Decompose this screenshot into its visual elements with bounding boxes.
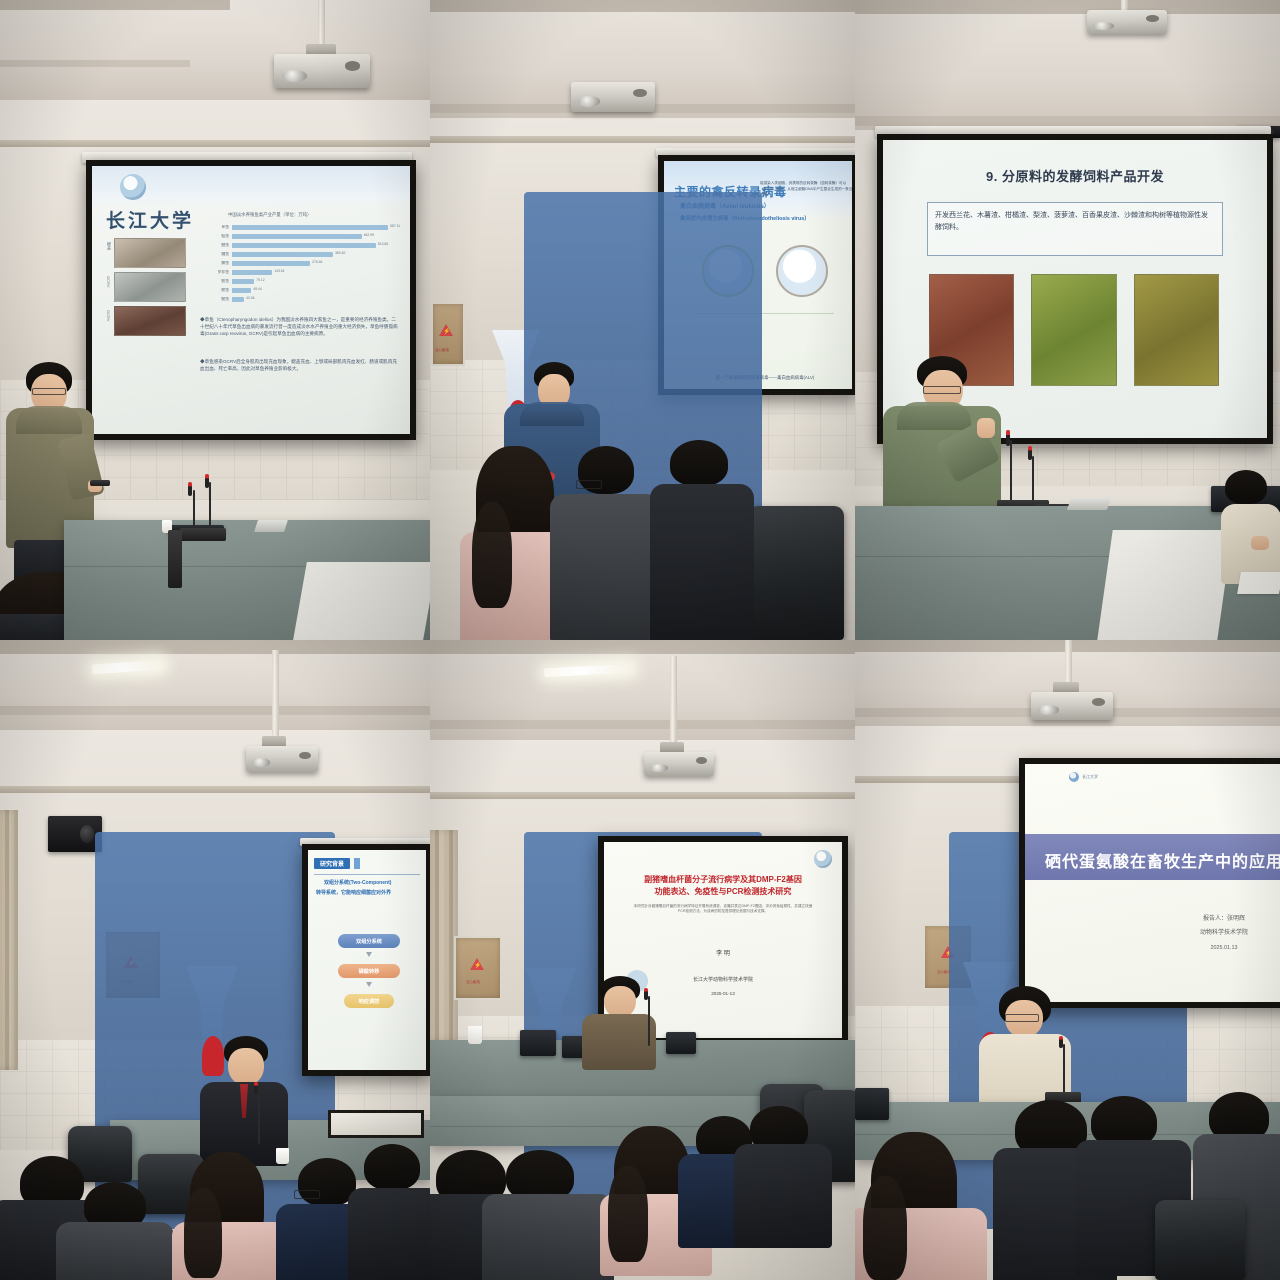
chart-bar-track: 43.06 [232, 297, 400, 302]
gooseneck-microphone [1057, 1036, 1069, 1100]
notebook [1237, 572, 1280, 594]
projection-screen[interactable]: 长江大学 鳃盖 GCRV GCRV 中国淡水养殖鱼类产业产量（单位：万吨） 草鱼… [86, 160, 416, 440]
table-white-panel [293, 562, 430, 640]
chart-bar-track: 462.99 [232, 234, 400, 239]
glasses-icon [32, 388, 66, 395]
chart-bar [232, 288, 251, 293]
chart-bar-row: 罗非鱼143.54 [200, 269, 400, 276]
chart-category-label: 草鱼 [200, 225, 232, 230]
photo-label-1: 鳃盖 [106, 242, 112, 250]
slide-photo-3 [1134, 274, 1219, 386]
slide-photo-2 [1031, 274, 1116, 386]
chart-bar-row: 鲤鱼513.65 [200, 242, 400, 249]
slide-body-2: ◆草鱼感染GCRV后全身肌肉出现充血现象，鳃盖充血、上颚或局部肌肉充血发红、肠道… [200, 358, 400, 372]
chart-value-label: 43.06 [246, 296, 255, 300]
collage-panel-top-right[interactable]: 9. 分原料的发酵饲料产品开发 开发西兰花、木薯渣、柑橘渣、梨渣、菠萝渣、百香果… [855, 0, 1280, 640]
university-logo-mark [1069, 772, 1079, 782]
electrical-hazard-icon [439, 324, 453, 336]
chart-bar-track: 79.12 [232, 279, 400, 284]
chart-category-label: 鲢鱼 [200, 234, 232, 239]
chart-bar-row: 鮊鱼43.06 [200, 296, 400, 303]
collage-panel-bottom-center[interactable]: 当心触电 副猪嗜血杆菌分子流行病学及其DMP-F2基因 功能表达、免疫性与PCR… [430, 640, 855, 1280]
audience-person-grey-coat [56, 1196, 172, 1280]
chart-bars: 草鱼557.11鲢鱼462.99鲤鱼513.65鳙鱼360.82鲫鱼278.46… [200, 224, 400, 303]
slide-subtitle-2: 能感染人类细胞，其携带的反转录酶（逆转录酶）可以（cDNA）结合，从宿主细胞DN… [760, 181, 852, 198]
glasses-icon [923, 386, 961, 394]
chart-value-label: 278.46 [312, 260, 322, 264]
monitor-on-table [855, 1088, 889, 1120]
chart-category-label: 鲮鱼 [200, 288, 232, 293]
collage-panel-bottom-right[interactable]: 当心触电 长江大学 硒代蛋氨酸在畜牧生产中的应用 报告人：张明辉 动物科学技术学… [855, 640, 1280, 1280]
chart-bar-track: 557.11 [232, 225, 400, 230]
slide-panel-1: 长江大学 鳃盖 GCRV GCRV 中国淡水养殖鱼类产业产量（单位：万吨） 草鱼… [92, 166, 410, 434]
chart-bar [232, 243, 376, 248]
framed-picture [328, 1110, 424, 1138]
slide-title-line-1: 副猪嗜血杆菌分子流行病学及其DMP-F2基因 [604, 874, 842, 886]
chart-bar-track: 360.82 [232, 252, 400, 257]
paper-cup [276, 1148, 289, 1164]
gooseneck-microphone [252, 1082, 264, 1144]
flow-node-1: 双组分系统 [338, 934, 400, 948]
chart-bar-track: 278.46 [232, 261, 400, 266]
gooseneck-microphone [642, 988, 654, 1046]
slide-body-line-2: 转导系统，它能响应细菌应对外界 [316, 890, 391, 898]
chart-category-label: 鮊鱼 [200, 297, 232, 302]
photo-label-2: GCRV [106, 276, 111, 287]
audience-person-dark [650, 440, 754, 640]
projector-pole [1065, 640, 1072, 686]
collage-panel-top-left[interactable]: 长江大学 鳃盖 GCRV GCRV 中国淡水养殖鱼类产业产量（单位：万吨） 草鱼… [0, 0, 430, 640]
ceiling-projector [1031, 692, 1113, 720]
chart-bar-row: 鲢鱼462.99 [200, 233, 400, 240]
audience-person-hoodie [550, 446, 660, 640]
monitor-on-table [520, 1030, 556, 1056]
glasses-icon [294, 1190, 320, 1199]
office-chair [1155, 1200, 1245, 1280]
slide-abstract: 本研究针对副猪嗜血杆菌的流行病学特征开展系统调查，克隆并表达DMP-F2基因，评… [630, 904, 816, 915]
chart-bar [232, 297, 244, 302]
flow-node-2: 磷酸转移 [338, 964, 400, 978]
chart-bar-track: 513.65 [232, 243, 400, 248]
chart-bar [232, 270, 272, 275]
fish-photo-column [114, 238, 186, 336]
chart-bar-track: 143.54 [232, 270, 400, 275]
projection-screen[interactable]: 研究背景 双组分系统(Two-Component) 转导系统，它能响应细菌应对外… [302, 844, 430, 1076]
ceiling-projector [246, 746, 318, 772]
table-white-panel [1097, 530, 1232, 640]
university-logo: 长江大学 [1069, 772, 1098, 782]
laptop-on-table [1067, 498, 1111, 510]
paper-cup [468, 1026, 482, 1044]
electrical-hazard-icon [470, 958, 484, 970]
chart-bar [232, 234, 362, 239]
wall-speaker [48, 816, 102, 852]
ceiling-projector [274, 54, 370, 88]
audience-person-black-jacket [352, 1164, 430, 1280]
dark-object-on-table [168, 530, 182, 588]
chart-category-label: 鲤鱼 [200, 243, 232, 248]
chart-value-label: 360.82 [335, 251, 345, 255]
slide-body-3: 开发西兰花、木薯渣、柑橘渣、梨渣、菠萝渣、百香果皮渣、沙棘渣和构树等植物源性发酵… [935, 210, 1211, 234]
window-curtain [0, 810, 18, 1070]
chart-value-label: 462.99 [364, 233, 374, 237]
audience-person-black-jacket [736, 1118, 828, 1246]
chart-category-label: 鲫鱼 [200, 261, 232, 266]
chart-category-label: 鳙鱼 [200, 252, 232, 257]
monitor-on-table [666, 1032, 696, 1054]
chart-bar [232, 261, 310, 266]
chart-value-label: 143.54 [274, 269, 284, 273]
ceiling-projector [571, 82, 655, 112]
chart-bar-row: 鲂鱼79.12 [200, 278, 400, 285]
slide-title-3: 9. 分原料的发酵饲料产品开发 [883, 166, 1267, 185]
collage-panel-bottom-left[interactable]: 当心触电 研究背景 双组分系统(Two-Component) 转导系统，它能响应… [0, 640, 430, 1280]
gooseneck-microphone-2 [202, 474, 216, 536]
audience-person-pink [164, 1170, 292, 1280]
photo-label-3: GCRV [106, 310, 111, 321]
chart-title: 中国淡水养殖鱼类产业产量（单位：万吨） [228, 212, 311, 218]
projector-pole [318, 0, 325, 46]
glasses-icon [576, 480, 602, 489]
slide-title-6: 硒代蛋氨酸在畜牧生产中的应用 [1045, 848, 1280, 872]
production-bar-chart: 中国淡水养殖鱼类产业产量（单位：万吨） 草鱼557.11鲢鱼462.99鲤鱼51… [200, 224, 400, 305]
laser-pointer [90, 480, 110, 486]
chart-value-label: 557.11 [390, 224, 400, 228]
chart-bar-row: 鲮鱼69.44 [200, 287, 400, 294]
collage-panel-top-center[interactable]: 主要的禽反转录病毒 能感染人类细胞，其携带的反转录酶（逆转录酶）可以（cDNA）… [430, 0, 855, 640]
projector-pole [272, 650, 279, 740]
university-brush-text: 长江大学 [106, 206, 194, 233]
slide-body-line-1: 双组分系统(Two-Component) [324, 880, 391, 888]
slide-title-line-2: 功能表达、免疫性与PCR检测技术研究 [604, 886, 842, 898]
university-logo-text: 长江大学 [1082, 774, 1098, 780]
chart-category-label: 鲂鱼 [200, 279, 232, 284]
chart-bar-track: 69.44 [232, 288, 400, 293]
virion-diagram-right [776, 245, 828, 297]
electrical-panel-warning-label: 当心触电 [466, 980, 480, 985]
chart-bar [232, 225, 388, 230]
audience-person-pink [855, 1140, 991, 1280]
chart-bar [232, 252, 333, 257]
slide-author: 李 明 [604, 948, 842, 957]
slide-org: 动物科学技术学院 [1145, 928, 1280, 939]
laptop-on-table [254, 520, 288, 532]
chart-value-label: 69.44 [253, 287, 262, 291]
slide-panel-6: 长江大学 硒代蛋氨酸在畜牧生产中的应用 报告人：张明辉 动物科学技术学院 202… [1025, 764, 1280, 1002]
chart-value-label: 513.65 [378, 242, 388, 246]
chart-bar [232, 279, 254, 284]
projection-screen[interactable]: 长江大学 硒代蛋氨酸在畜牧生产中的应用 报告人：张明辉 动物科学技术学院 202… [1019, 758, 1280, 1008]
electrical-panel-warning-label: 当心触电 [435, 348, 449, 353]
chart-category-label: 罗非鱼 [200, 270, 232, 275]
microphone-base [180, 528, 226, 541]
flow-node-3: 响应调控 [344, 994, 394, 1008]
chair-person-suit [196, 1036, 292, 1166]
office-chair [748, 506, 844, 640]
slide-body-1: ◆草鱼（Ctenopharyngodon idellus）为我国淡水养殖四大家鱼… [200, 316, 400, 337]
photo-collage: 长江大学 鳃盖 GCRV GCRV 中国淡水养殖鱼类产业产量（单位：万吨） 草鱼… [0, 0, 1280, 1280]
glasses-icon [1005, 1014, 1039, 1022]
slide-tag-4: 研究背景 [314, 858, 350, 869]
slide-date: 2025.01.13 [1145, 944, 1280, 953]
slide-presenter-label: 报告人：张明辉 [1145, 914, 1280, 925]
ceiling-projector [1087, 10, 1167, 34]
chart-bar-row: 鲫鱼278.46 [200, 260, 400, 267]
projector-pole [670, 656, 677, 746]
chart-bar-row: 鳙鱼360.82 [200, 251, 400, 258]
chart-bar-row: 草鱼557.11 [200, 224, 400, 231]
ceiling-projector [644, 752, 714, 776]
chart-value-label: 79.12 [256, 278, 265, 282]
slide-panel-4: 研究背景 双组分系统(Two-Component) 转导系统，它能响应细菌应对外… [308, 850, 426, 1070]
